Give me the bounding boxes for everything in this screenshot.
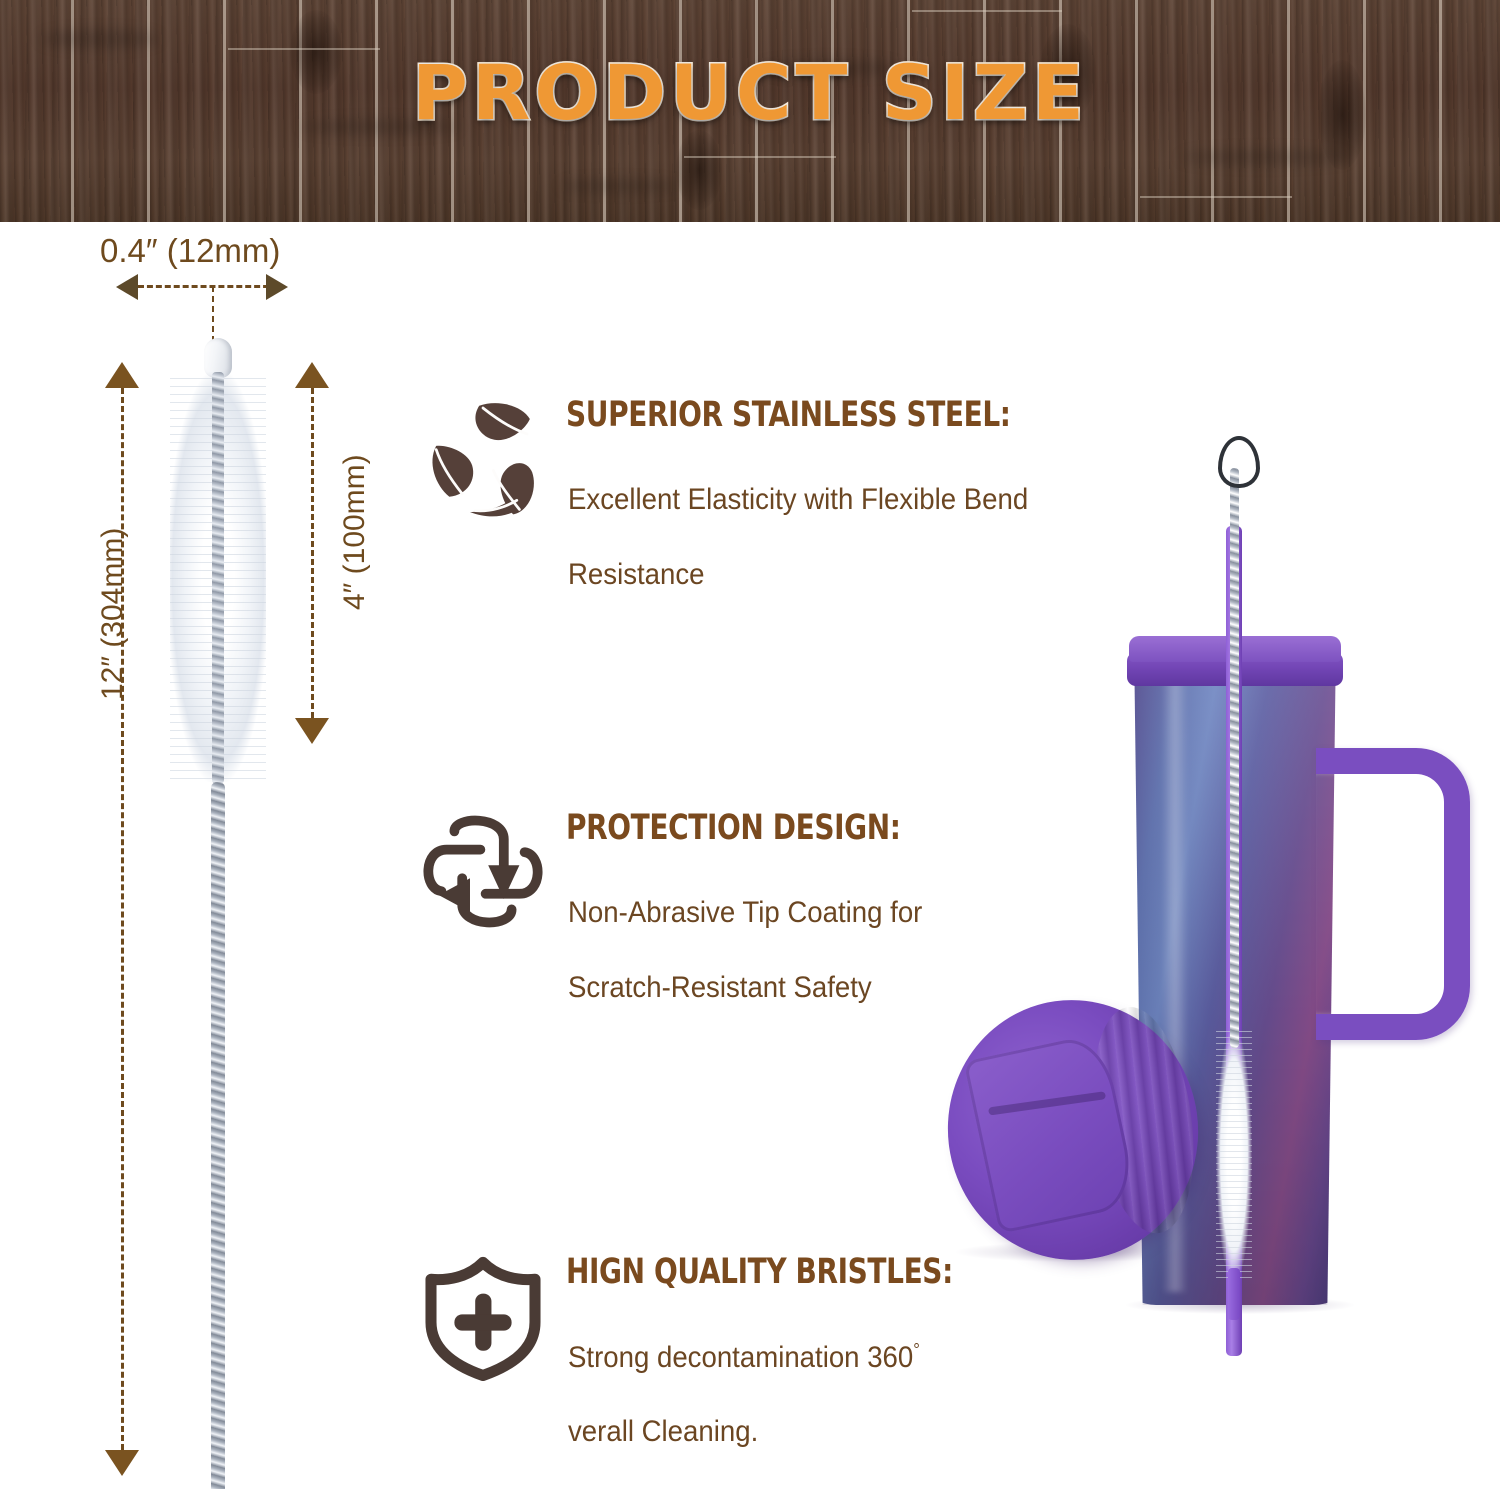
tumbler-product-illustration [930,430,1490,1330]
straw-cleaning-brush-illustration [170,338,266,1489]
feature-body-line-2: Scratch-Resistant Safety [568,971,872,1005]
total-length-dimension-label: 12″ (304mm) [96,528,130,700]
bristle-length-dash-line [311,388,314,718]
diameter-dash-line [138,285,278,288]
shield-plus-icon [418,1252,548,1382]
diameter-dimension-label: 0.4″ (12mm) [100,232,280,270]
diameter-leader-line [212,286,214,342]
wood-banner-background: PRODUCT SIZE [0,0,1500,222]
recycle-leaves-icon [418,395,548,525]
straw-bottom-tip [1228,1268,1240,1320]
total-length-arrow-bottom-icon [105,1450,139,1476]
inserted-brush-bristles [1216,1030,1252,1280]
feature-body-line-1: Strong decontamination 360° [568,1340,920,1375]
feature-body-line-1: Non-Abrasive Tip Coating for [568,896,922,930]
inserted-brush-wire [1230,468,1239,1048]
degree-symbol: ° [913,1340,920,1360]
inserted-brush-loop-handle [1218,436,1260,488]
rotation-arrows-icon [418,808,548,938]
bristle-length-arrow-top-icon [295,362,329,388]
brush-wire-handle-shaft [211,782,225,1489]
tumbler-handle [1316,748,1470,1040]
total-length-arrow-top-icon [105,362,139,388]
bristle-length-dimension-label: 4″ (100mm) [338,454,372,610]
product-size-infographic: PRODUCT SIZE 0.4″ (12mm) 12″ (304mm) 4″ … [0,0,1500,1489]
feature-heading: HIGN QUALITY BRISTLES: [566,1252,953,1292]
page-title: PRODUCT SIZE [0,48,1500,137]
feature-body-text: Strong decontamination 360 [568,1341,913,1374]
page-title-text: PRODUCT SIZE [412,48,1088,137]
feature-heading: PROTECTION DESIGN: [566,808,901,848]
feature-heading: SUPERIOR STAINLESS STEEL: [566,395,1011,435]
bristle-length-arrow-bottom-icon [295,718,329,744]
diameter-arrow-right-icon [266,274,288,300]
feature-body-line-2: verall Cleaning. [568,1415,758,1449]
feature-body-line-2: Resistance [568,558,705,592]
brush-twisted-wire-core [212,372,224,784]
diameter-arrow-left-icon [116,274,138,300]
